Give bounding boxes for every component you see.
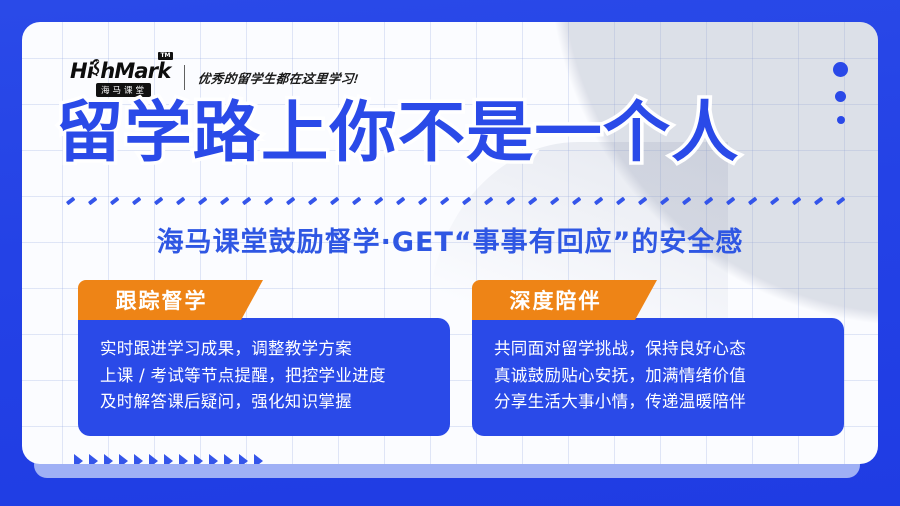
- dash-mark-icon: [418, 197, 427, 205]
- dash-mark-icon: [132, 197, 141, 205]
- dash-mark-icon: [88, 197, 97, 205]
- dash-mark-icon: [154, 197, 163, 205]
- header-divider: [184, 65, 185, 90]
- feature-card-line: 上课 / 考试等节点提醒，把控学业进度: [100, 363, 430, 390]
- poster-canvas: HihMark TM 海马课堂 优秀的留学生都在这里学习! 留学路上你不是一个人…: [0, 0, 900, 506]
- hero-subtitle: 海马课堂鼓励督学·GET“事事有回应”的安全感: [22, 220, 878, 259]
- dash-mark-icon: [242, 197, 251, 205]
- main-panel: HihMark TM 海马课堂 优秀的留学生都在这里学习! 留学路上你不是一个人…: [22, 22, 878, 464]
- dash-mark-icon: [308, 197, 317, 205]
- dash-mark-icon: [770, 197, 779, 205]
- logo-wordmark: HihMark TM: [70, 58, 171, 82]
- feature-card-tracking: 跟踪督学 实时跟进学习成果，调整教学方案 上课 / 考试等节点提醒，把控学业进度…: [78, 280, 450, 436]
- feature-card-line: 真诚鼓励贴心安抚，加满情绪价值: [494, 363, 824, 390]
- dash-mark-icon: [66, 197, 75, 205]
- chevron-right-icon: [149, 454, 158, 464]
- logo-wordmark-row: HihMark TM: [70, 58, 171, 82]
- dash-mark-icon: [704, 197, 713, 205]
- feature-card-line: 共同面对留学挑战，保持良好心态: [494, 336, 824, 363]
- dash-mark-icon: [792, 197, 801, 205]
- dash-mark-icon: [220, 197, 229, 205]
- feature-card-companionship: 深度陪伴 共同面对留学挑战，保持良好心态 真诚鼓励贴心安抚，加满情绪价值 分享生…: [472, 280, 844, 436]
- dash-mark-icon: [616, 197, 625, 205]
- chevron-right-icon: [104, 454, 113, 464]
- dot-small-icon: [837, 116, 845, 124]
- dash-mark-icon: [506, 197, 515, 205]
- dash-mark-icon: [374, 197, 383, 205]
- dash-mark-icon: [462, 197, 471, 205]
- feature-cards: 跟踪督学 实时跟进学习成果，调整教学方案 上课 / 考试等节点提醒，把控学业进度…: [78, 280, 844, 436]
- dash-mark-icon: [814, 197, 823, 205]
- logo-wordmark-text: HihMark: [70, 59, 171, 83]
- dash-mark-icon: [594, 197, 603, 205]
- feature-card-body: 共同面对留学挑战，保持良好心态 真诚鼓励贴心安抚，加满情绪价值 分享生活大事小情…: [472, 318, 844, 436]
- dash-mark-icon: [638, 197, 647, 205]
- chevron-right-icon: [224, 454, 233, 464]
- dash-mark-icon: [528, 197, 537, 205]
- feature-card-line: 实时跟进学习成果，调整教学方案: [100, 336, 430, 363]
- dash-mark-icon: [550, 197, 559, 205]
- dash-mark-icon: [726, 197, 735, 205]
- dash-mark-icon: [572, 197, 581, 205]
- chevron-right-icon: [254, 454, 263, 464]
- dash-mark-icon: [396, 197, 405, 205]
- dot-large-icon: [833, 62, 848, 77]
- feature-card-title-banner: 跟踪督学: [78, 280, 263, 320]
- chevron-right-icon: [89, 454, 98, 464]
- chevron-right-icon: [209, 454, 218, 464]
- feature-card-line: 及时解答课后疑问，强化知识掌握: [100, 389, 430, 416]
- chevron-right-icon: [164, 454, 173, 464]
- brand-tagline: 优秀的留学生都在这里学习!: [197, 68, 360, 87]
- logo: HihMark TM 海马课堂: [70, 58, 171, 97]
- chevron-right-icon: [239, 454, 248, 464]
- chevron-right-icon: [119, 454, 128, 464]
- dash-mark-icon: [682, 197, 691, 205]
- dash-mark-icon: [484, 197, 493, 205]
- dash-mark-icon: [440, 197, 449, 205]
- dash-mark-icon: [660, 197, 669, 205]
- chevron-right-icon: [179, 454, 188, 464]
- seahorse-icon: [90, 58, 101, 78]
- dash-mark-icon: [330, 197, 339, 205]
- chevron-right-icon: [194, 454, 203, 464]
- dash-mark-icon: [352, 197, 361, 205]
- dot-medium-icon: [835, 91, 846, 102]
- dash-mark-icon: [264, 197, 273, 205]
- dash-mark-icon: [286, 197, 295, 205]
- chevron-row: [74, 454, 263, 464]
- dash-mark-icon: [836, 197, 845, 205]
- dash-mark-icon: [748, 197, 757, 205]
- feature-card-line: 分享生活大事小情，传递温暖陪伴: [494, 389, 824, 416]
- chevron-right-icon: [74, 454, 83, 464]
- feature-card-body: 实时跟进学习成果，调整教学方案 上课 / 考试等节点提醒，把控学业进度 及时解答…: [78, 318, 450, 436]
- dashed-divider: [66, 194, 856, 208]
- dash-mark-icon: [198, 197, 207, 205]
- dash-mark-icon: [176, 197, 185, 205]
- brand-header: HihMark TM 海马课堂 优秀的留学生都在这里学习!: [70, 58, 358, 97]
- hero-headline-text: 留学路上你不是一个人: [56, 94, 739, 171]
- chevron-right-icon: [134, 454, 143, 464]
- logo-trademark: TM: [158, 52, 172, 60]
- hero-headline: 留学路上你不是一个人: [56, 100, 878, 166]
- feature-card-title: 深度陪伴: [510, 285, 602, 315]
- feature-card-title: 跟踪督学: [116, 285, 208, 315]
- dot-cluster: [833, 62, 848, 124]
- dash-mark-icon: [110, 197, 119, 205]
- feature-card-title-banner: 深度陪伴: [472, 280, 657, 320]
